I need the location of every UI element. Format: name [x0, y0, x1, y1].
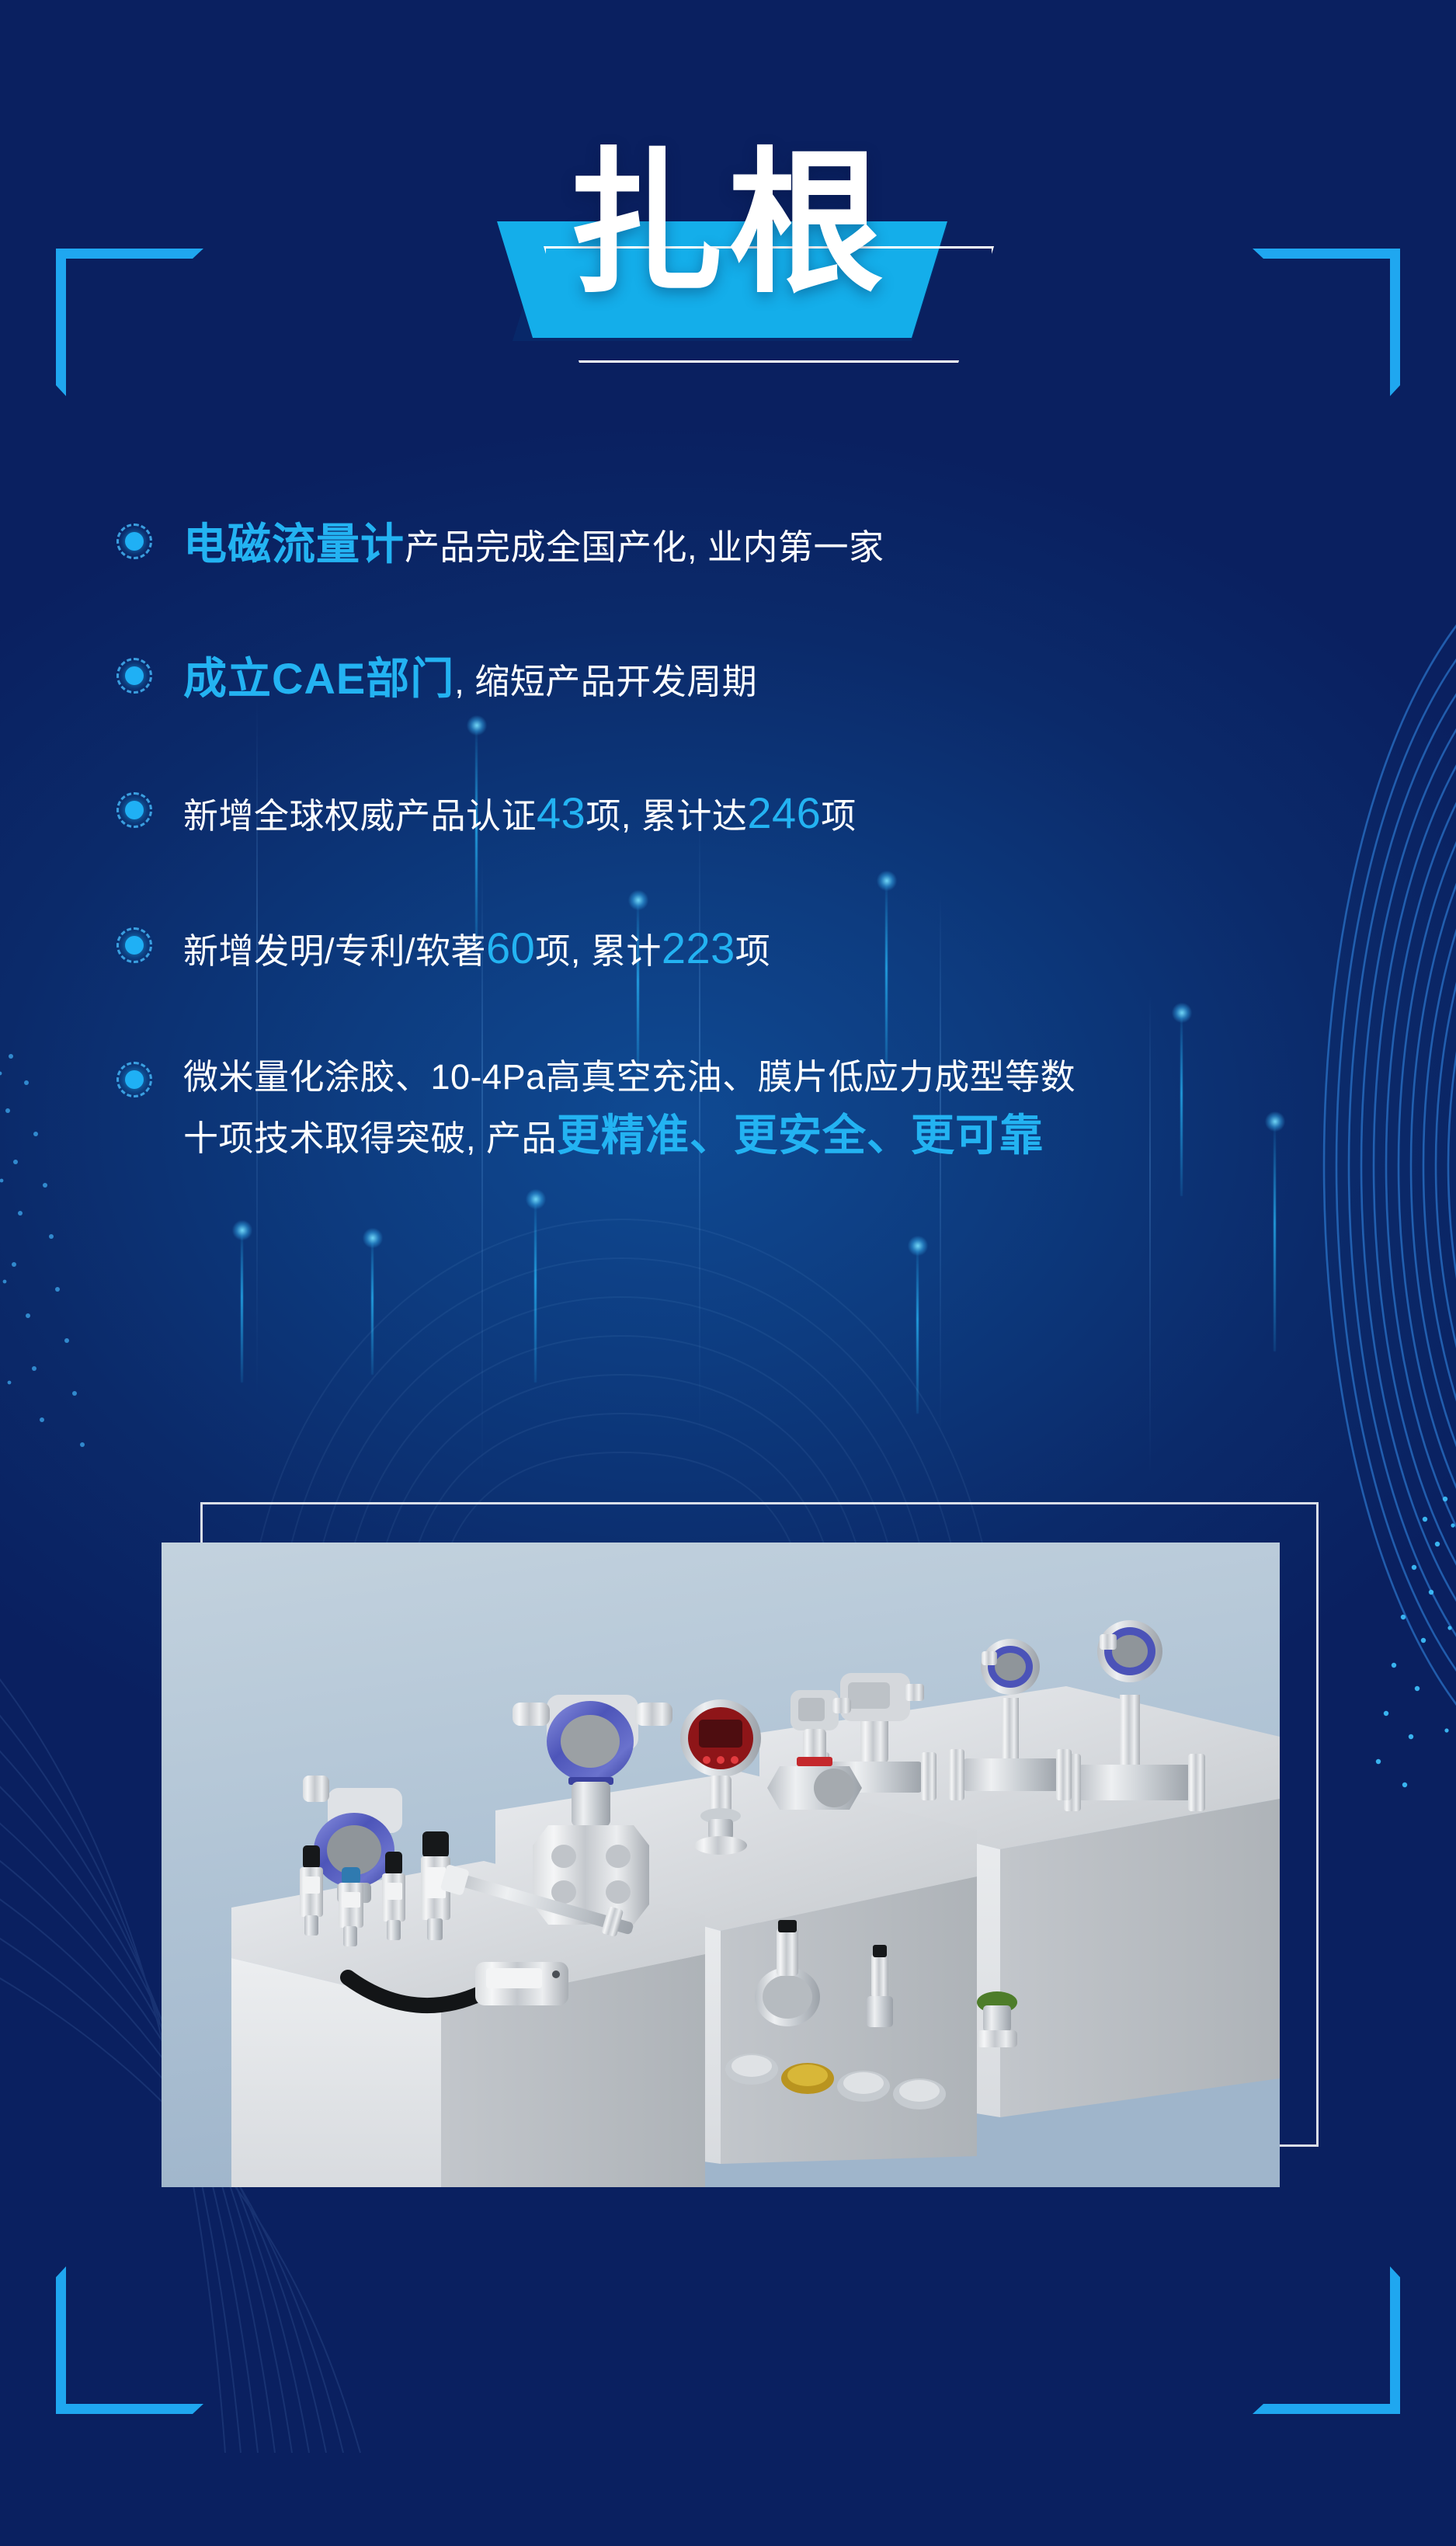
list-item-body: 产品完成全国产化, 业内第一家 [405, 527, 884, 567]
list-item-text: 新增发明/专利/软著60项, 累计223项 [183, 916, 770, 979]
decorative-light-beam [534, 1196, 537, 1383]
list-item-body: 项 [735, 931, 771, 971]
list-item-body: , 缩短产品开发周期 [454, 662, 757, 701]
dotted-ring-bullet-icon [116, 1062, 152, 1097]
list-item-number: 60 [486, 923, 535, 972]
list-item-text: 成立CAE部门, 缩短产品开发周期 [183, 647, 757, 710]
bracket-arm-vertical [1390, 2266, 1400, 2414]
list-item-body: 项, 累计 [535, 931, 662, 971]
list-item-highlight: 成立CAE部门 [183, 654, 454, 703]
list-item: 新增全球权威产品认证43项, 累计达246项 [116, 781, 1328, 844]
dotted-ring-bullet-icon [116, 927, 152, 963]
product-photo-illustration [162, 1543, 1280, 2187]
dotted-ring-bullet-icon [116, 792, 152, 828]
list-item: 成立CAE部门, 缩短产品开发周期 [116, 647, 1328, 710]
list-item-highlight: 电磁流量计 [183, 520, 405, 569]
product-photo [162, 1543, 1280, 2187]
bullet-core [125, 666, 144, 685]
list-item-body: 项, 累计达 [586, 796, 747, 836]
list-item-body: 新增全球权威产品认证 [183, 796, 537, 836]
list-item-body: 微米量化涂胶、10-4Pa高真空充油、膜片低应力成型等数 [183, 1057, 1075, 1097]
poster-root: 扎根 电磁流量计产品完成全国产化, 业内第一家 成立CAE部门, 缩短产品开发周… [0, 0, 1456, 2546]
decorative-light-beam [241, 1227, 243, 1383]
footer-spacer [0, 2414, 1456, 2546]
list-item-text: 微米量化涂胶、10-4Pa高真空充油、膜片低应力成型等数十项技术取得突破, 产品… [183, 1051, 1075, 1169]
decorative-light-beam [916, 1243, 919, 1414]
corner-bracket-bottom-right [1253, 2266, 1400, 2414]
bullet-core [125, 936, 144, 955]
bracket-arm-vertical [56, 2266, 66, 2414]
list-item: 新增发明/专利/软著60项, 累计223项 [116, 916, 1328, 979]
page-title: 扎根 [0, 113, 1456, 369]
title-banner: 扎根 [0, 113, 1456, 369]
list-item-body: 十项技术取得突破, 产品 [183, 1118, 557, 1158]
bracket-arm-horizontal [1253, 2404, 1400, 2414]
achievement-list: 电磁流量计产品完成全国产化, 业内第一家 成立CAE部门, 缩短产品开发周期 新… [116, 513, 1328, 1168]
bullet-core [125, 1070, 144, 1089]
corner-bracket-bottom-left [56, 2266, 203, 2414]
list-item: 微米量化涂胶、10-4Pa高真空充油、膜片低应力成型等数十项技术取得突破, 产品… [116, 1051, 1328, 1169]
list-item-text: 新增全球权威产品认证43项, 累计达246项 [183, 781, 857, 844]
dotted-ring-bullet-icon [116, 658, 152, 694]
list-item-number: 43 [537, 788, 586, 837]
list-item-body: 项 [821, 796, 857, 836]
list-item-number: 223 [662, 923, 735, 972]
dotted-ring-bullet-icon [116, 523, 152, 559]
bracket-arm-horizontal [56, 2404, 203, 2414]
list-item: 电磁流量计产品完成全国产化, 业内第一家 [116, 513, 1328, 576]
decorative-light-beam [371, 1235, 374, 1375]
list-item-body: 新增发明/专利/软著 [183, 931, 486, 971]
bullet-core [125, 532, 144, 551]
list-item-number: 246 [747, 788, 821, 837]
list-item-highlight: 更精准、更安全、更可靠 [557, 1111, 1044, 1160]
list-item-text: 电磁流量计产品完成全国产化, 业内第一家 [183, 513, 884, 576]
